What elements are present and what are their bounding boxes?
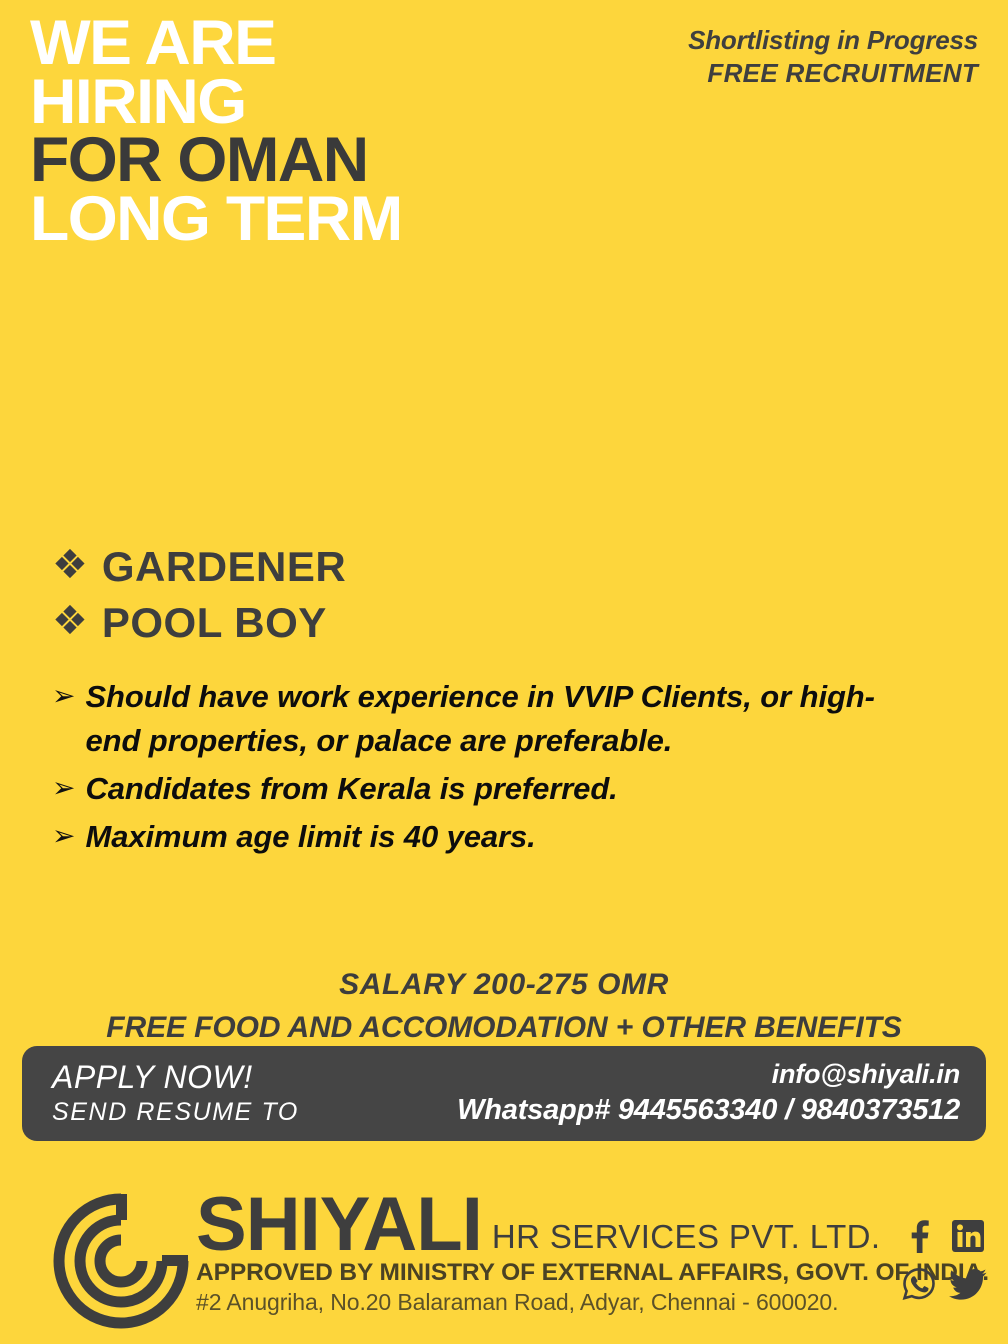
brand-row: SHIYALI HR SERVICES PVT. LTD. xyxy=(196,1192,886,1258)
brand-name: SHIYALI xyxy=(196,1192,482,1257)
whatsapp-icon[interactable] xyxy=(901,1266,937,1307)
office-address: #2 Anugriha, No.20 Balaraman Road, Adyar… xyxy=(196,1289,886,1316)
arrow-bullet-icon: ➢ xyxy=(52,815,75,856)
salary-amount: SALARY 200-275 OMR xyxy=(0,965,1008,1004)
brand-suffix: HR SERVICES PVT. LTD. xyxy=(492,1218,881,1256)
footer: SHIYALI HR SERVICES PVT. LTD. APPROVED B… xyxy=(0,1178,1008,1344)
headline-line-4: LONG TERM xyxy=(30,190,662,249)
facebook-icon[interactable] xyxy=(907,1219,931,1258)
job-list: ❖ GARDENER ❖ POOL BOY xyxy=(52,543,752,655)
brand-block: SHIYALI HR SERVICES PVT. LTD. APPROVED B… xyxy=(196,1192,886,1316)
apply-column: APPLY NOW! SEND RESUME TO xyxy=(52,1060,299,1128)
benefits-text: FREE FOOD AND ACCOMODATION + OTHER BENEF… xyxy=(0,1008,1008,1047)
diamond-bullet-icon: ❖ xyxy=(52,601,88,641)
apply-now-label: APPLY NOW! xyxy=(52,1060,299,1096)
job-title: GARDENER xyxy=(102,543,346,591)
requirement-item: ➢ Maximum age limit is 40 years. xyxy=(52,815,952,859)
salary-block: SALARY 200-275 OMR FREE FOOD AND ACCOMOD… xyxy=(0,965,1008,1047)
requirement-item: ➢ Candidates from Kerala is preferred. xyxy=(52,767,952,811)
whatsapp-numbers[interactable]: Whatsapp# 9445563340 / 9840373512 xyxy=(457,1093,960,1128)
requirement-text: Candidates from Kerala is preferred. xyxy=(85,767,617,811)
contact-bar: APPLY NOW! SEND RESUME TO info@shiyali.i… xyxy=(22,1046,986,1141)
requirement-text: Maximum age limit is 40 years. xyxy=(85,815,535,859)
hiring-poster: WE ARE HIRING FOR OMAN LONG TERM Shortli… xyxy=(0,0,1008,1344)
shortlisting-status: Shortlisting in Progress xyxy=(688,24,978,57)
job-item: ❖ POOL BOY xyxy=(52,599,752,647)
requirements-list: ➢ Should have work experience in VVIP Cl… xyxy=(52,675,952,863)
approval-line: APPROVED BY MINISTRY OF EXTERNAL AFFAIRS… xyxy=(196,1259,886,1287)
job-item: ❖ GARDENER xyxy=(52,543,752,591)
arrow-bullet-icon: ➢ xyxy=(52,767,75,808)
requirement-text: Should have work experience in VVIP Clie… xyxy=(85,675,915,763)
linkedin-icon[interactable] xyxy=(951,1219,985,1258)
social-links xyxy=(896,1214,994,1310)
twitter-icon[interactable] xyxy=(949,1268,987,1305)
free-recruitment-label: FREE RECRUITMENT xyxy=(688,57,978,90)
headline-line-1: WE ARE xyxy=(30,14,662,73)
arrow-bullet-icon: ➢ xyxy=(52,675,75,716)
headline-block: WE ARE HIRING FOR OMAN LONG TERM xyxy=(30,14,650,248)
contact-details: info@shiyali.in Whatsapp# 9445563340 / 9… xyxy=(457,1059,960,1128)
shiyali-logo-icon xyxy=(38,1186,204,1336)
job-title: POOL BOY xyxy=(102,599,327,647)
headline-line-2: HIRING xyxy=(30,73,662,132)
headline-line-3: FOR OMAN xyxy=(30,131,662,190)
status-note: Shortlisting in Progress FREE RECRUITMEN… xyxy=(688,24,978,89)
requirement-item: ➢ Should have work experience in VVIP Cl… xyxy=(52,675,952,763)
email-address[interactable]: info@shiyali.in xyxy=(457,1059,960,1090)
diamond-bullet-icon: ❖ xyxy=(52,545,88,585)
send-resume-label: SEND RESUME TO xyxy=(52,1097,299,1127)
